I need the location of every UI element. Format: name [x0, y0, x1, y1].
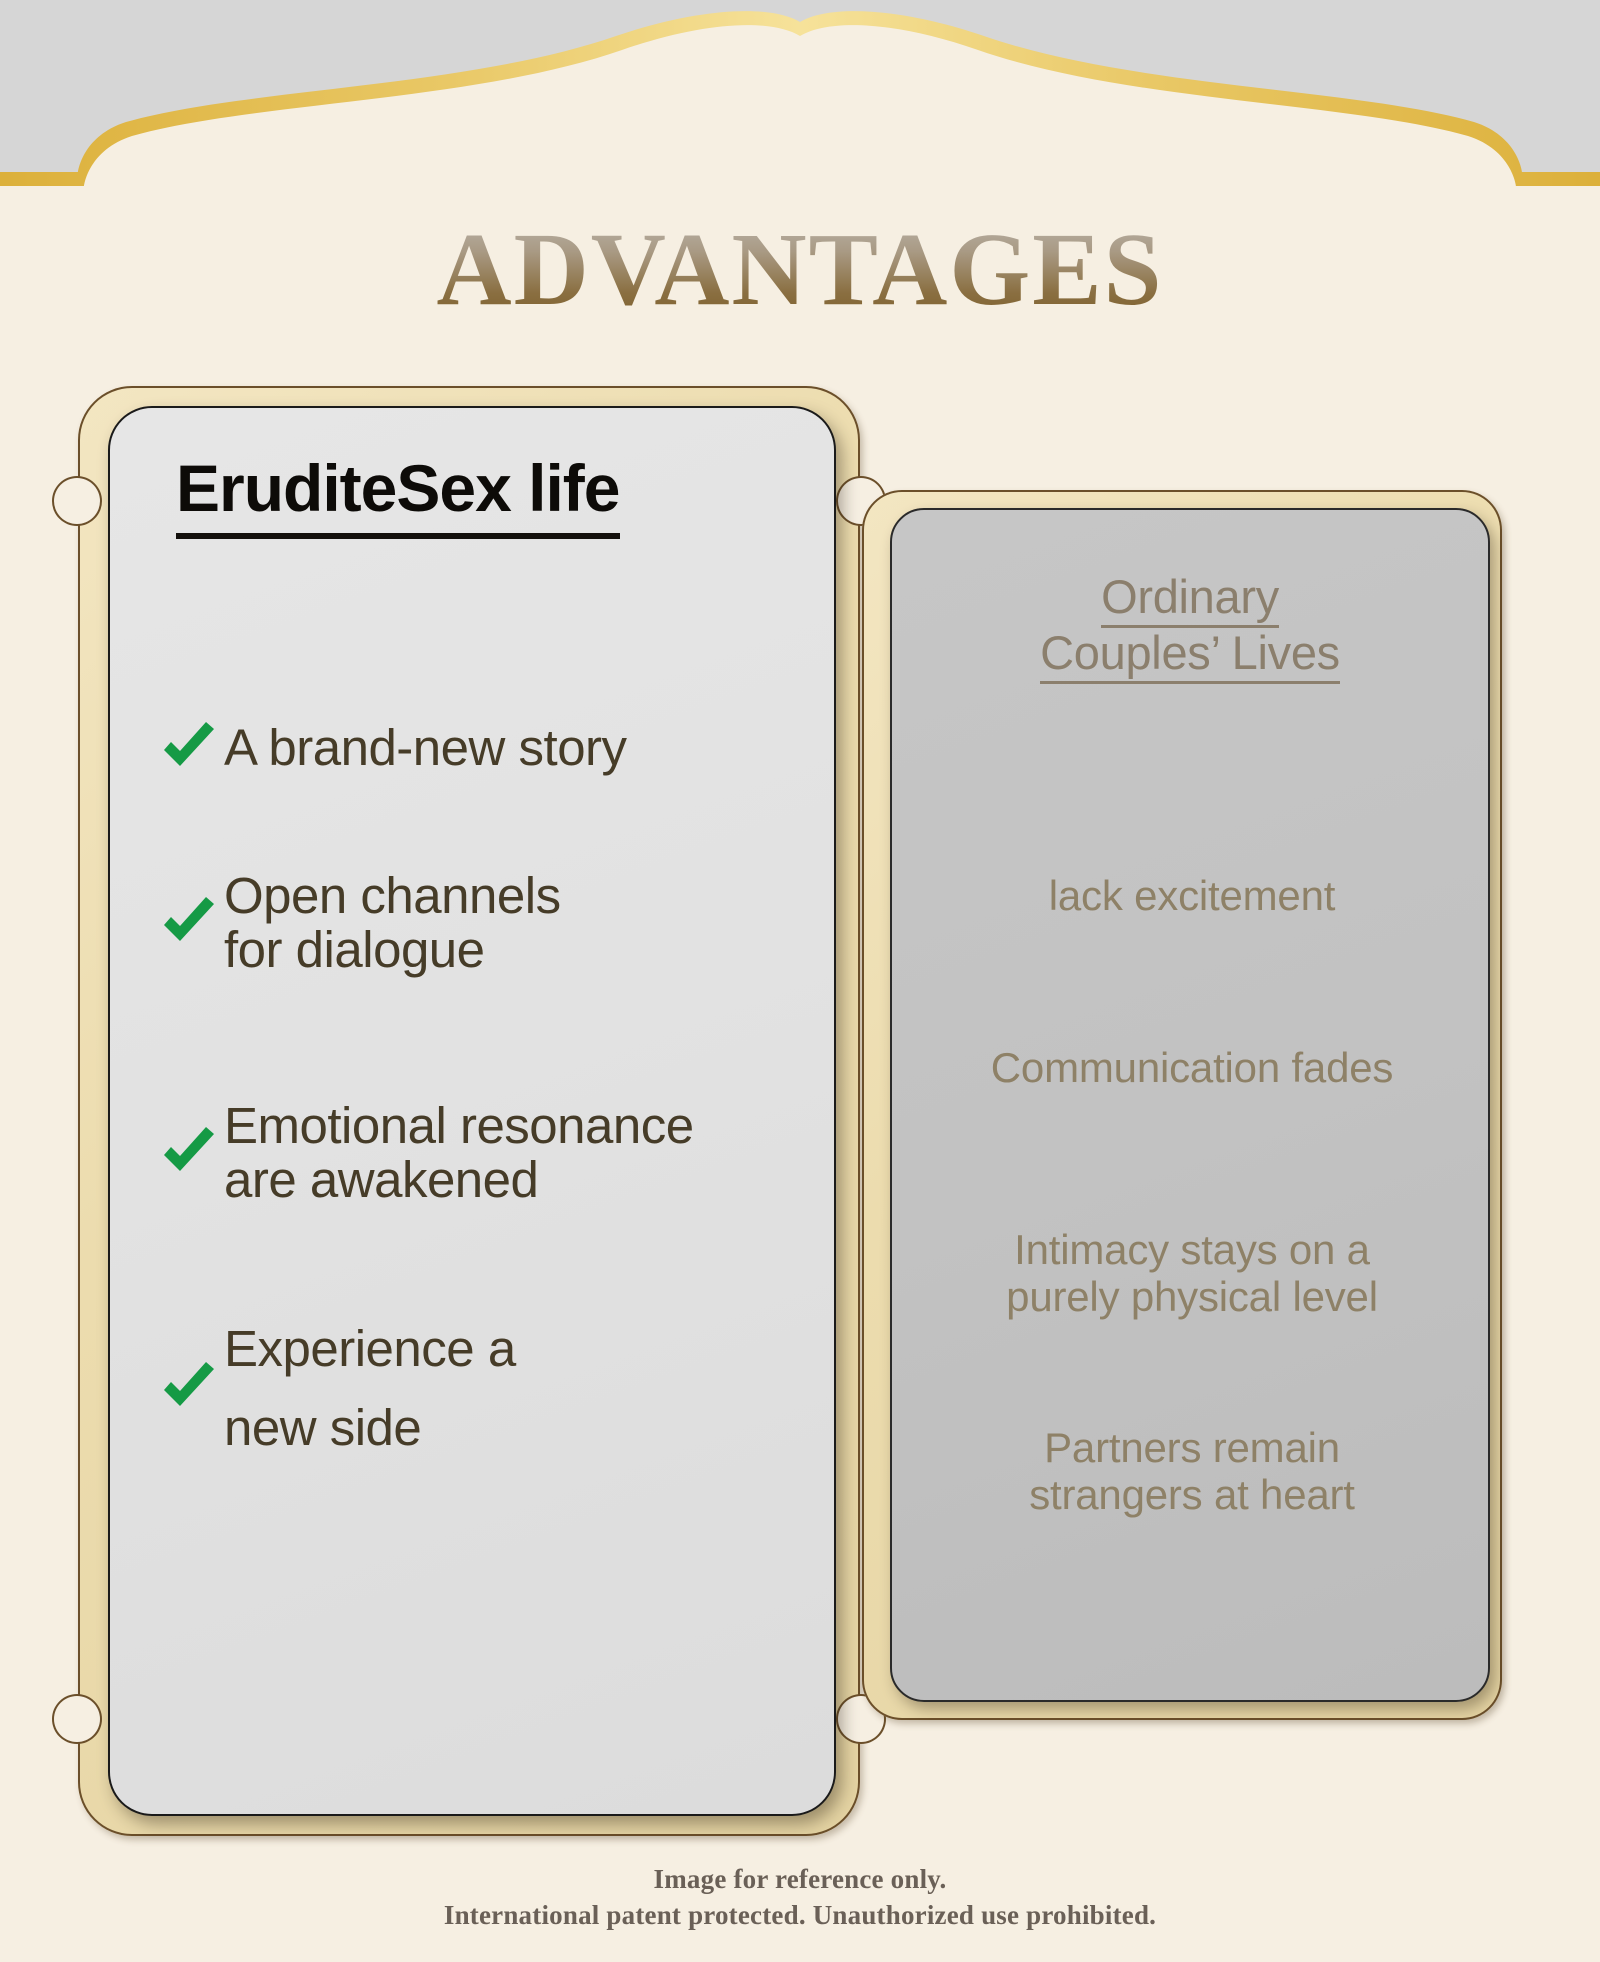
list-item: Intimacy stays on a purely physical leve… [916, 1226, 1468, 1321]
list-item: A brand-new story [158, 717, 858, 779]
right-card-heading: Ordinary Couples’ Lives [916, 572, 1464, 684]
list-item: Partners remain strangers at heart [916, 1424, 1468, 1519]
ordinary-couples-card: Ordinary Couples’ Lives lack excitement … [890, 508, 1490, 1702]
check-icon [158, 1357, 220, 1419]
gold-rim [0, 11, 1600, 186]
footer-line-2: International patent protected. Unauthor… [0, 1898, 1600, 1934]
check-icon [158, 717, 220, 779]
list-item-label: Open channels for dialogue [224, 869, 561, 977]
list-item: Open channels for dialogue [158, 869, 858, 977]
page-title: ADVANTAGES [0, 218, 1600, 322]
list-item: Experience a new side [158, 1309, 858, 1467]
footer-line-1: Image for reference only. [0, 1862, 1600, 1898]
list-item: Communication fades [916, 1044, 1468, 1091]
footer-disclaimer: Image for reference only. International … [0, 1862, 1600, 1933]
list-item: lack excitement [916, 872, 1468, 919]
list-item: Emotional resonance are awakened [158, 1099, 858, 1207]
right-card-heading-line2: Couples’ Lives [1040, 628, 1340, 684]
check-icon [158, 892, 220, 954]
right-card-heading-line1: Ordinary [1101, 572, 1279, 628]
advantages-card: EruditeSex life A brand-new story Open c… [108, 406, 836, 1816]
list-item-label: A brand-new story [224, 721, 627, 775]
list-item-label: Emotional resonance are awakened [224, 1099, 694, 1207]
list-item-label: Experience a new side [224, 1309, 516, 1467]
check-icon [158, 1122, 220, 1184]
left-card-heading: EruditeSex life [176, 454, 620, 539]
